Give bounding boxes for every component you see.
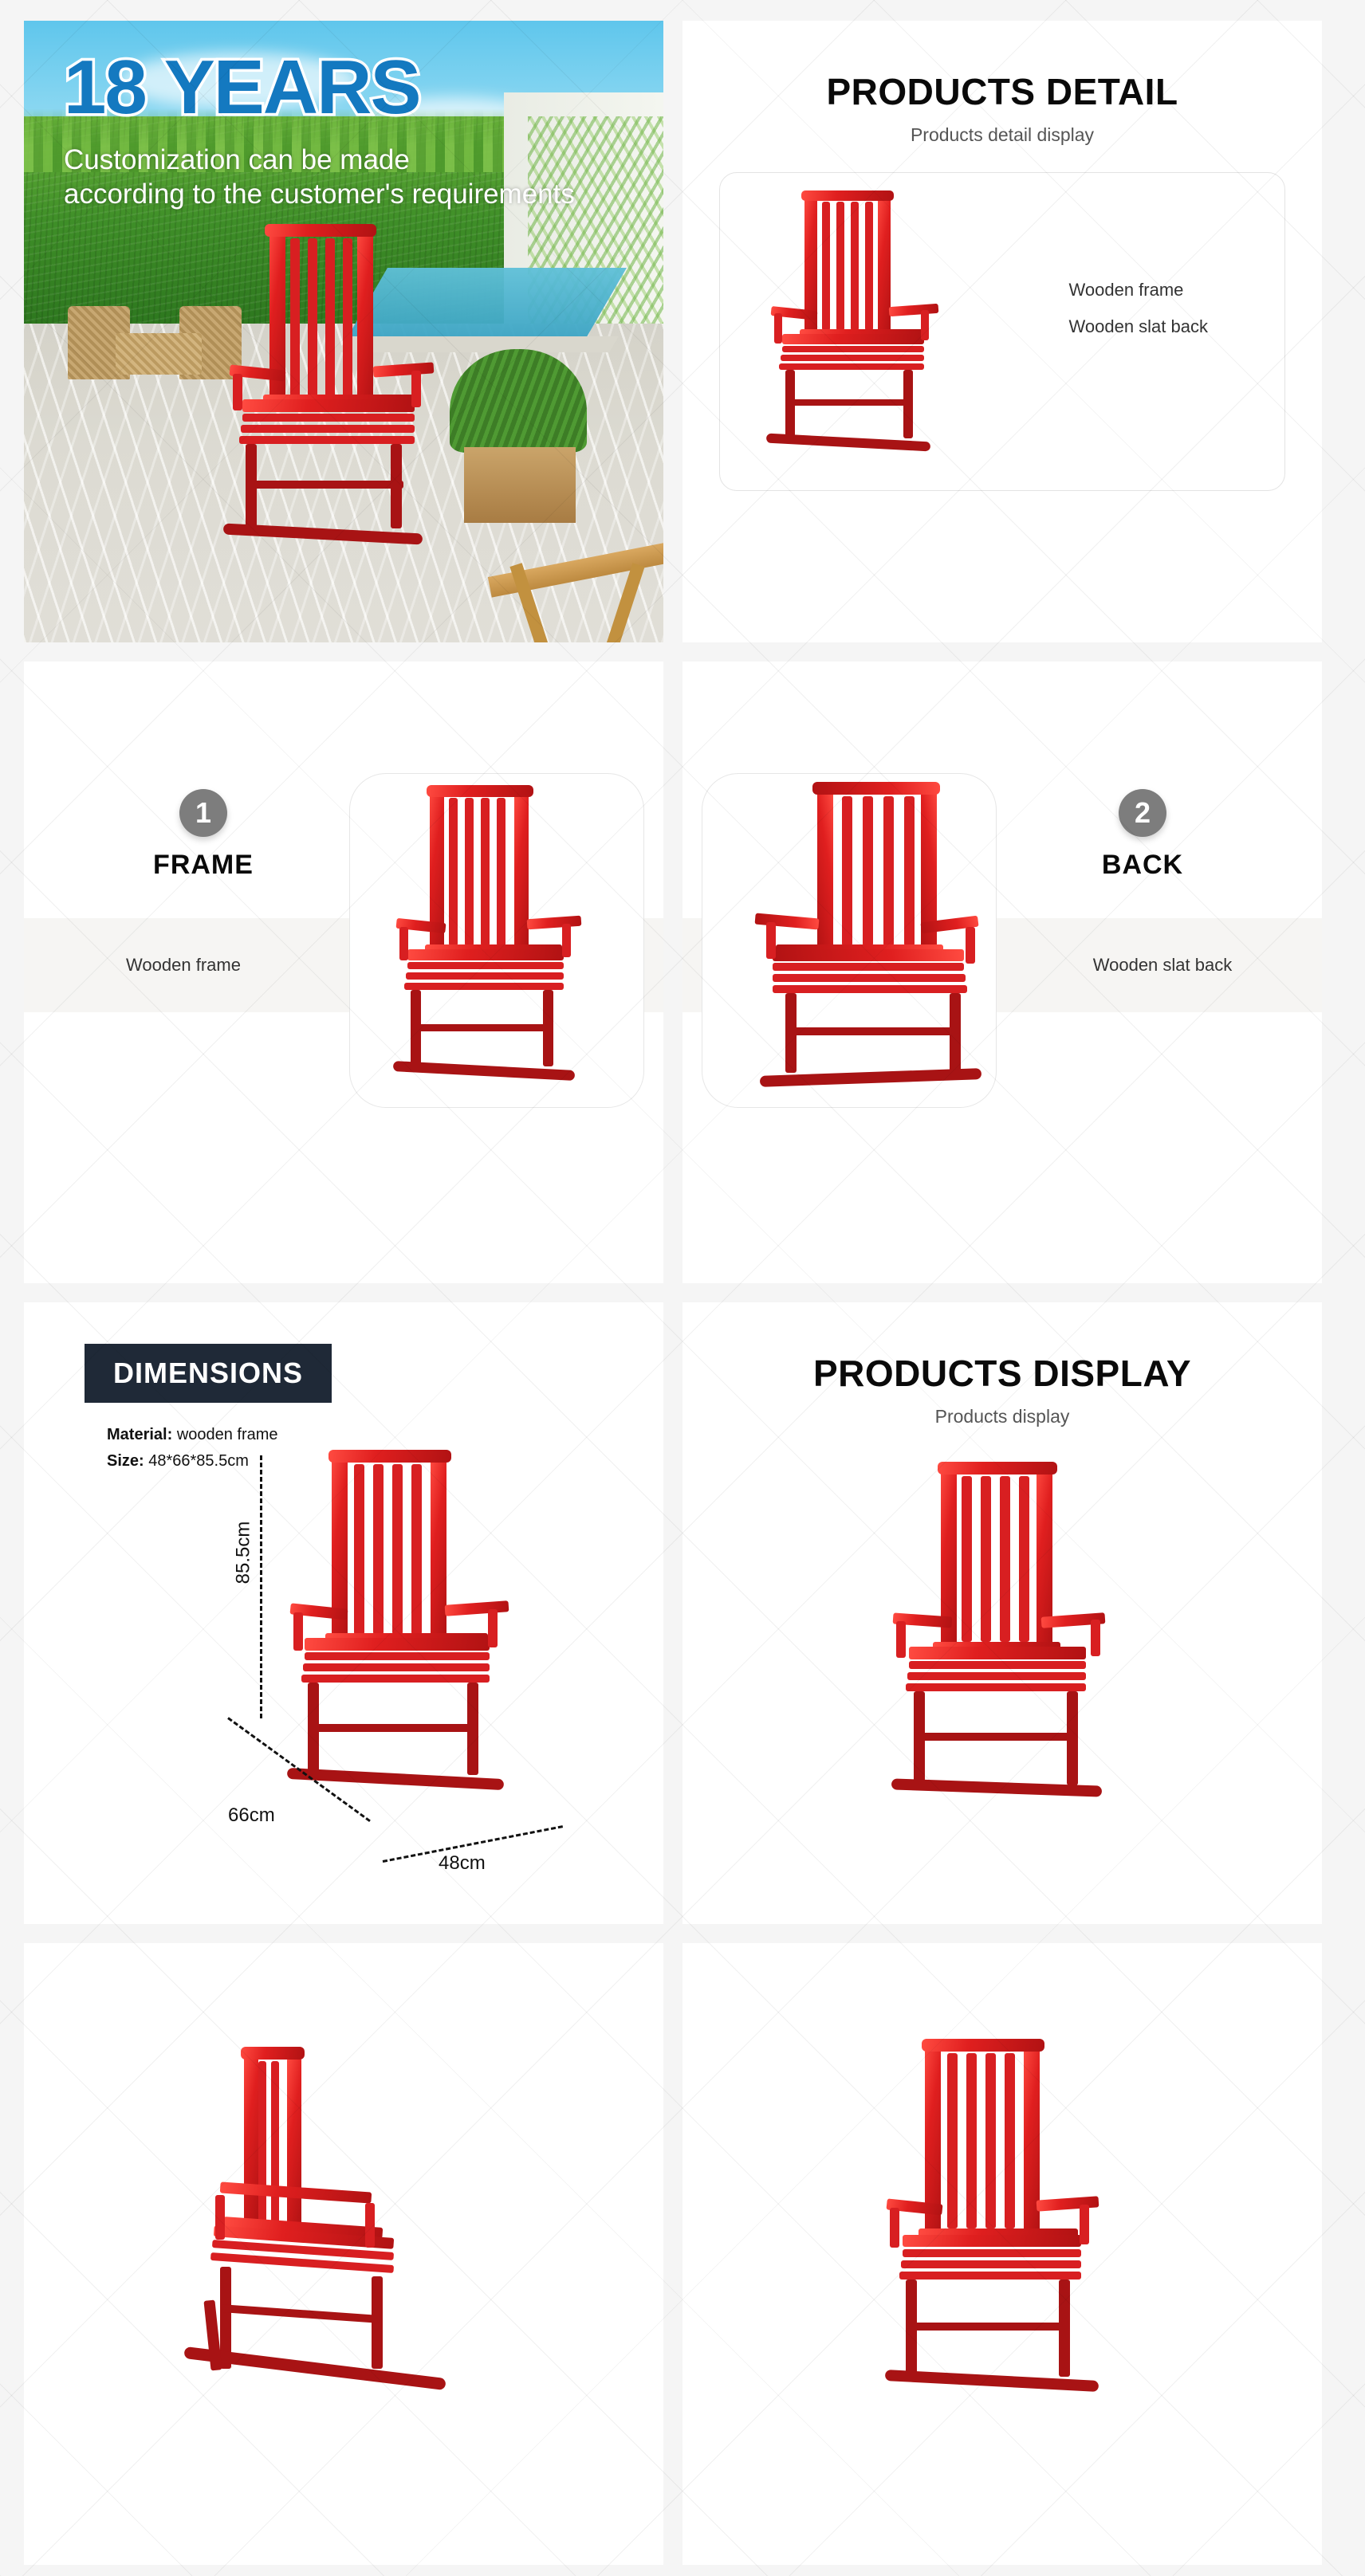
- page-title: PRODUCTS DETAIL: [682, 70, 1322, 113]
- detail-display-panel: Wooden frame Wooden slat back: [719, 172, 1285, 491]
- rocking-chair-illustration: [882, 1462, 1145, 1836]
- feature-label-group: 1 FRAME: [112, 789, 295, 881]
- feature-back-card: 2 BACK Wooden slat back: [682, 662, 1322, 1283]
- rocking-chair-illustration: [223, 224, 462, 567]
- page-title: PRODUCTS DISPLAY: [682, 1352, 1322, 1395]
- dimensions-spec-list: Material: wooden frame Size: 48*66*85.5c…: [107, 1422, 278, 1475]
- products-detail-header: PRODUCTS DETAIL Products detail display: [682, 21, 1322, 146]
- feature-number-badge: 2: [1119, 789, 1166, 837]
- size-label: Size:: [107, 1452, 144, 1470]
- rocking-chair-illustration: [718, 782, 981, 1109]
- material-label: Material:: [107, 1426, 172, 1443]
- feature-caption: Wooden slat back: [1019, 955, 1306, 976]
- products-display-header: PRODUCTS DISPLAY Products display: [682, 1302, 1322, 1427]
- banner-headline: 18 YEARS: [64, 49, 575, 126]
- size-row: Size: 48*66*85.5cm: [107, 1448, 278, 1475]
- detail-label: Wooden slat back: [1069, 308, 1208, 345]
- depth-dimension-label: 66cm: [228, 1804, 275, 1827]
- banner-subtitle: Customization can be made according to t…: [64, 143, 575, 211]
- banner-text-block: 18 YEARS Customization can be made accor…: [64, 49, 575, 211]
- detail-label: Wooden frame: [1069, 272, 1208, 308]
- hero-banner-card: 18 YEARS Customization can be made accor…: [24, 21, 663, 642]
- feature-label-group: 2 BACK: [1051, 789, 1234, 881]
- wicker-table: [116, 333, 202, 375]
- rocking-chair-illustration: [175, 2047, 494, 2429]
- feature-photo: [702, 773, 997, 1108]
- rocking-chair-illustration: [882, 2039, 1161, 2437]
- rocking-chair-illustration: [393, 785, 608, 1104]
- rocking-chair-illustration: [287, 1450, 550, 1832]
- feature-block: 1 FRAME Wooden frame: [24, 662, 663, 1283]
- page-subtitle: Products detail display: [682, 124, 1322, 146]
- wooden-planter: [464, 447, 576, 523]
- products-display-card: PRODUCTS DISPLAY Products display: [682, 1302, 1322, 1924]
- feature-photo: [349, 773, 644, 1108]
- feature-title: BACK: [1051, 850, 1234, 881]
- gallery-photo: [682, 1943, 1322, 2565]
- gallery-card-left: [24, 1943, 663, 2565]
- width-dimension-label: 48cm: [439, 1852, 486, 1875]
- products-detail-card: PRODUCTS DETAIL Products detail display: [682, 21, 1322, 642]
- rocking-chair-illustration: [766, 190, 966, 469]
- detail-feature-labels: Wooden frame Wooden slat back: [1069, 272, 1208, 345]
- dimensions-card: DIMENSIONS Material: wooden frame Size: …: [24, 1302, 663, 1924]
- material-value: wooden frame: [177, 1426, 278, 1443]
- feature-title: FRAME: [112, 850, 295, 881]
- page-subtitle: Products display: [682, 1406, 1322, 1427]
- height-dimension-line: [260, 1455, 262, 1718]
- gallery-card-right: [682, 1943, 1322, 2565]
- material-row: Material: wooden frame: [107, 1422, 278, 1448]
- wicker-furniture-set: [68, 276, 243, 379]
- product-detail-grid: 18 YEARS Customization can be made accor…: [0, 0, 1365, 2576]
- height-dimension-label: 85.5cm: [232, 1522, 254, 1584]
- feature-caption: Wooden frame: [40, 955, 327, 976]
- feature-frame-card: 1 FRAME Wooden frame: [24, 662, 663, 1283]
- feature-number-badge: 1: [179, 789, 227, 837]
- gallery-photo: [24, 1943, 663, 2565]
- feature-block: 2 BACK Wooden slat back: [682, 662, 1322, 1283]
- dimensions-tag: DIMENSIONS: [85, 1344, 332, 1403]
- size-value: 48*66*85.5cm: [148, 1452, 249, 1470]
